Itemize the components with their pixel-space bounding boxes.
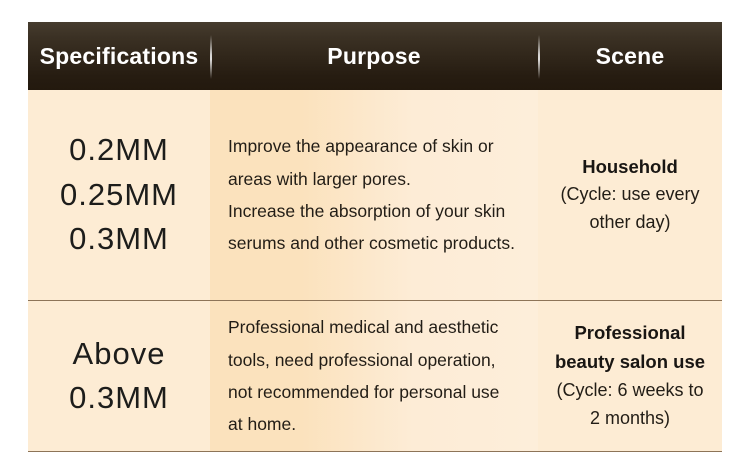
- scene-cycle-line: (Cycle: use every: [548, 181, 712, 209]
- purpose-line: not recommended for personal use: [228, 376, 516, 408]
- spec-value: 0.3MM: [69, 376, 169, 420]
- scene-title: Professional: [548, 319, 712, 348]
- table-row: Above 0.3MM Professional medical and aes…: [28, 300, 722, 452]
- purpose-line: areas with larger pores.: [228, 163, 516, 195]
- spec-value: Above: [73, 332, 166, 376]
- purpose-line: at home.: [228, 408, 516, 440]
- scene-cycle-line: 2 months): [548, 405, 712, 433]
- column-header-purpose-label: Purpose: [327, 43, 420, 70]
- cell-specifications: 0.2MM 0.25MM 0.3MM: [28, 90, 210, 300]
- specifications-table: Specifications Purpose Scene 0.2MM 0.25M…: [28, 22, 722, 452]
- header-divider-2: [538, 35, 540, 79]
- cell-purpose: Improve the appearance of skin or areas …: [210, 90, 538, 300]
- spec-value: 0.25MM: [60, 173, 178, 218]
- scene-text: Professional beauty salon use (Cycle: 6 …: [538, 319, 722, 432]
- header-divider-1: [210, 35, 212, 79]
- purpose-text: Improve the appearance of skin or areas …: [210, 130, 538, 260]
- cell-purpose: Professional medical and aesthetic tools…: [210, 300, 538, 452]
- column-header-scene: Scene: [538, 22, 722, 90]
- purpose-line: Increase the absorption of your skin: [228, 195, 516, 227]
- table-row: 0.2MM 0.25MM 0.3MM Improve the appearanc…: [28, 90, 722, 300]
- spec-value: 0.2MM: [69, 128, 169, 173]
- purpose-line: Professional medical and aesthetic: [228, 311, 516, 343]
- column-header-purpose: Purpose: [210, 22, 538, 90]
- spec-value: 0.3MM: [69, 217, 169, 262]
- purpose-line: serums and other cosmetic products.: [228, 227, 516, 259]
- scene-cycle-line: (Cycle: 6 weeks to: [548, 377, 712, 405]
- scene-title: beauty salon use: [548, 348, 712, 377]
- table-header-row: Specifications Purpose Scene: [28, 22, 722, 90]
- cell-scene: Household (Cycle: use every other day): [538, 90, 722, 300]
- cell-scene: Professional beauty salon use (Cycle: 6 …: [538, 300, 722, 452]
- scene-title: Household: [548, 153, 712, 182]
- table-body: 0.2MM 0.25MM 0.3MM Improve the appearanc…: [28, 90, 722, 452]
- purpose-line: tools, need professional operation,: [228, 344, 516, 376]
- scene-text: Household (Cycle: use every other day): [538, 153, 722, 237]
- purpose-line: Improve the appearance of skin or: [228, 130, 516, 162]
- column-header-specifications: Specifications: [28, 22, 210, 90]
- scene-cycle-line: other day): [548, 209, 712, 237]
- cell-specifications: Above 0.3MM: [28, 300, 210, 452]
- column-header-specifications-label: Specifications: [40, 43, 199, 70]
- purpose-text: Professional medical and aesthetic tools…: [210, 311, 538, 441]
- table-bottom-border: [28, 451, 722, 452]
- row-divider: [28, 300, 722, 301]
- column-header-scene-label: Scene: [596, 43, 665, 70]
